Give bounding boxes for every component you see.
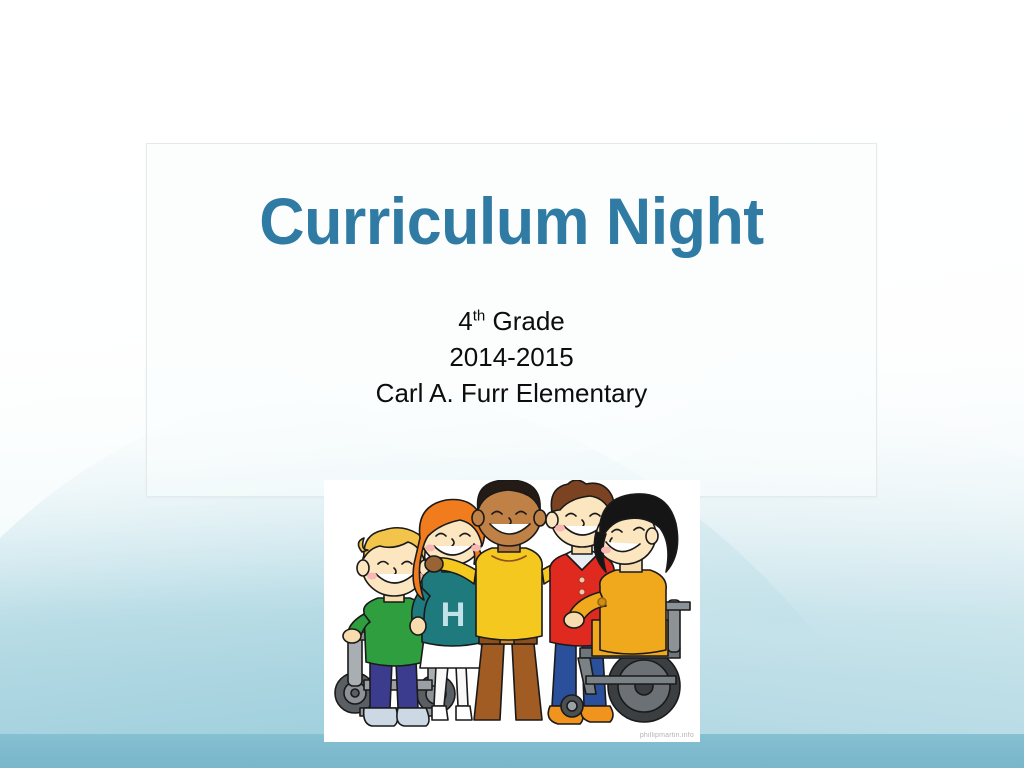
presentation-slide: Curriculum Night 4th Grade 2014-2015 Car… — [0, 0, 1024, 768]
slide-title: Curriculum Night — [179, 180, 843, 262]
subtitle-line-school-year: 2014-2015 — [146, 339, 877, 375]
image-watermark: phillipmartin.info — [640, 732, 694, 739]
grade-ordinal-suffix: th — [473, 307, 486, 324]
title-block: Curriculum Night — [146, 180, 877, 262]
subtitle-block: 4th Grade 2014-2015 Carl A. Furr Element… — [146, 303, 877, 411]
svg-text:H: H — [441, 596, 466, 634]
subtitle-line-grade: 4th Grade — [146, 303, 877, 339]
subtitle-line-school-name: Carl A. Furr Elementary — [146, 375, 877, 411]
grade-number: 4 — [458, 306, 472, 336]
clipart-children-image: H — [324, 480, 700, 742]
grade-word: Grade — [485, 306, 565, 336]
children-clipart-svg: H — [324, 480, 700, 742]
